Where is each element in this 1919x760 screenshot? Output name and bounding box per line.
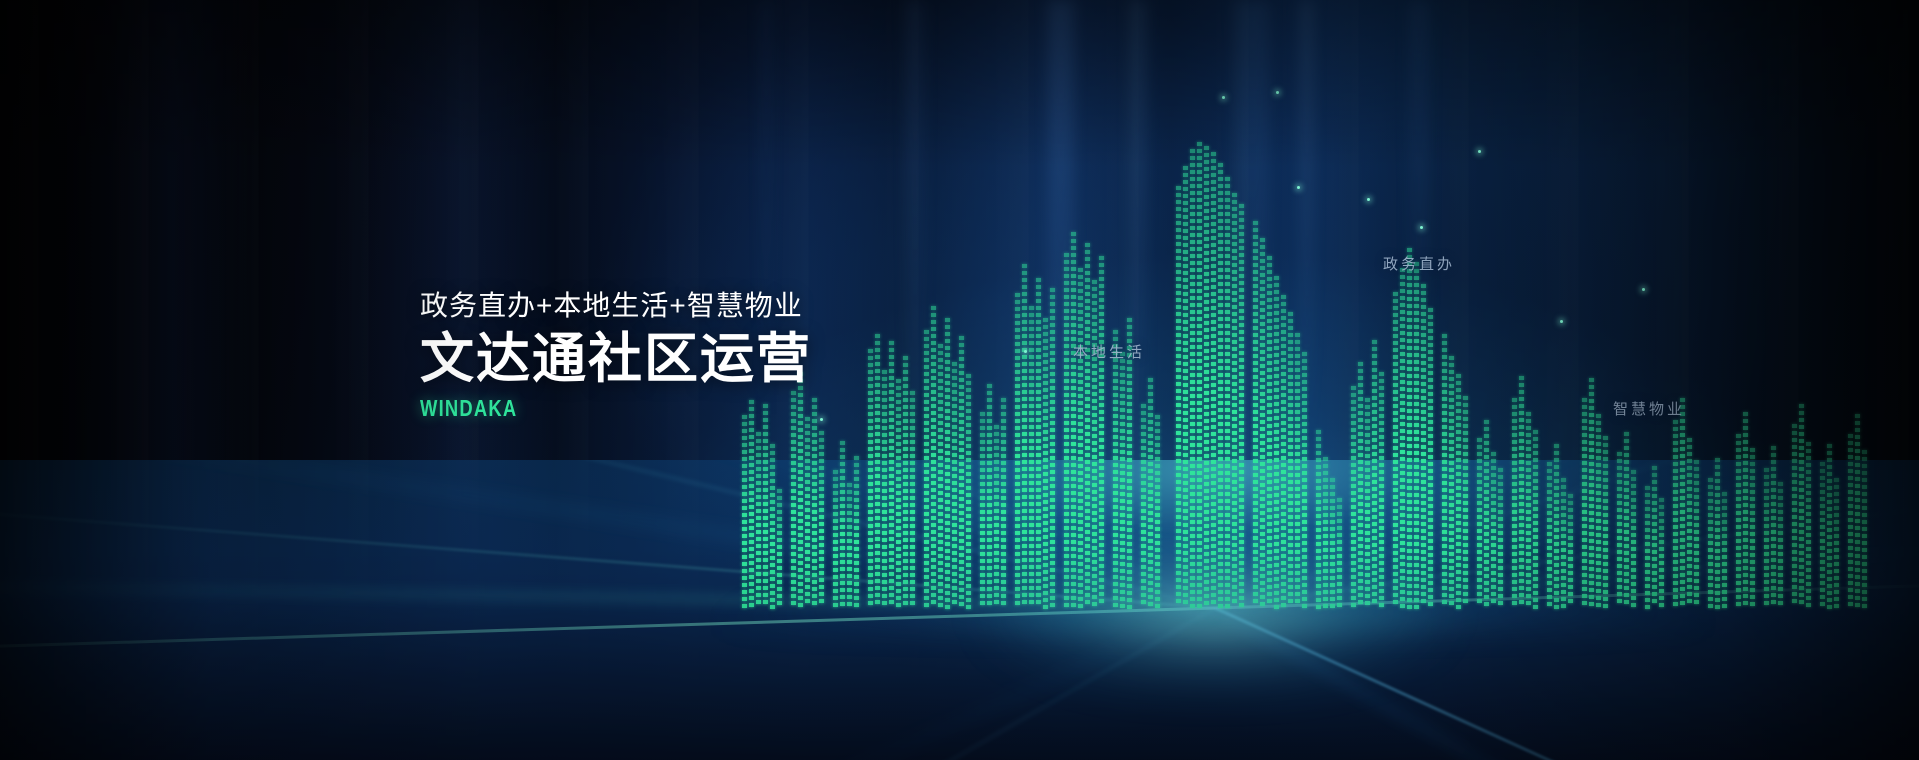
skyline-column [840,441,845,612]
skyline-column [966,374,971,612]
skyline-column [1092,280,1097,612]
skyline-column [1253,221,1258,612]
skyline-column [1862,450,1867,612]
skyline-column [1568,494,1573,612]
skyline-column [1617,452,1622,612]
floating-label-2: 本地生活 [1073,341,1145,362]
skyline-column [812,398,817,612]
skyline-column [1750,448,1755,612]
skyline-column [1288,312,1293,612]
skyline-column [1848,434,1853,612]
skyline-column [945,318,950,612]
skyline-column [1211,152,1216,612]
sparkle-dot [1560,320,1563,323]
skyline-column [833,470,838,612]
skyline-column [1400,268,1405,612]
skyline-column [1519,376,1524,612]
skyline-column [1260,238,1265,612]
skyline-column [1295,333,1300,612]
skyline-column [1071,232,1076,612]
skyline-column [1141,404,1146,612]
skyline-column [1533,430,1538,612]
skyline-column [805,417,810,612]
floating-label-1: 政务直办 [1383,253,1455,274]
skyline-column [994,425,999,612]
skyline-column [1393,292,1398,612]
skyline-column [1330,478,1335,612]
skyline-column [1659,498,1664,612]
skyline-column [749,400,754,612]
skyline-column [1743,412,1748,612]
sparkle-dot [1024,350,1027,353]
skyline-column [1022,264,1027,612]
skyline-column [1428,308,1433,612]
sparkle-dot [1420,226,1423,229]
skyline-column [1645,486,1650,612]
skyline-column [1078,268,1083,612]
skyline-column [1442,334,1447,612]
skyline-column [959,336,964,612]
skyline-column [1673,420,1678,612]
sparkle-dot [1478,150,1481,153]
skyline-column [1603,436,1608,612]
skyline-column [1050,288,1055,612]
skyline-column [1477,438,1482,612]
skyline-column [1652,466,1657,612]
skyline-column [1407,248,1412,612]
skyline-column [1176,186,1181,612]
skyline-column [1778,482,1783,612]
skyline-column [1855,414,1860,612]
skyline-column [1218,163,1223,612]
skyline-column [1554,444,1559,612]
skyline-column [1358,362,1363,612]
skyline-column [1064,253,1069,612]
skyline-column [1820,462,1825,612]
skyline-column [1631,470,1636,612]
skyline-column [756,432,761,612]
skyline-column [1526,412,1531,612]
skyline-column [763,404,768,612]
skyline-column [1085,243,1090,612]
skyline-column [1274,276,1279,612]
sparkle-dot [1297,186,1300,189]
skyline-column [1736,434,1741,612]
skyline-column [1148,378,1153,612]
skyline-column [1463,396,1468,612]
skyline-column [1708,478,1713,612]
skyline-column [1001,398,1006,612]
skyline-column [1799,404,1804,612]
skyline-column [1484,420,1489,612]
skyline-column [1421,284,1426,612]
skyline-column [819,431,824,612]
hero-banner: 政务直办本地生活智慧物业 政务直办+本地生活+智慧物业 文达通社区运营 WIND… [0,0,1919,760]
skyline-column [1806,442,1811,612]
skyline-column [1715,458,1720,612]
skyline-column [1036,278,1041,612]
headline-block: 政务直办+本地生活+智慧物业 文达通社区运营 WINDAKA [420,288,940,422]
banner-subtitle: 政务直办+本地生活+智慧物业 [420,288,940,323]
skyline-column [1120,352,1125,612]
skyline-column [1365,398,1370,612]
skyline-column [777,489,782,612]
skyline-column [1239,204,1244,612]
skyline-column [1582,398,1587,612]
skyline-column [791,391,796,612]
dotted-skyline-chart [0,0,1919,760]
skyline-column [1694,460,1699,612]
skyline-column [1351,386,1356,612]
skyline-column [1680,398,1685,612]
skyline-column [1722,492,1727,612]
skyline-column [1491,452,1496,612]
skyline-column [1414,262,1419,612]
skyline-column [1596,414,1601,612]
skyline-column [952,362,957,612]
skyline-column [1792,424,1797,612]
skyline-column [1015,293,1020,612]
skyline-column [1687,438,1692,612]
skyline-column [1302,352,1307,612]
skyline-column [1232,193,1237,612]
skyline-column [854,456,859,612]
skyline-column [1099,256,1104,612]
skyline-column [1449,356,1454,612]
skyline-column [742,415,747,612]
skyline-column [1379,372,1384,612]
skyline-column [1827,444,1832,612]
skyline-column [1764,468,1769,612]
skyline-column [1834,478,1839,612]
skyline-column [1512,398,1517,612]
skyline-column [1337,498,1342,612]
sparkle-dot [1276,91,1279,94]
sparkle-dot [1367,198,1370,201]
skyline-column [1323,457,1328,612]
skyline-column [1183,166,1188,612]
skyline-column [1127,318,1132,612]
skyline-column [770,444,775,612]
skyline-column [1589,378,1594,612]
floating-label-3: 智慧物业 [1613,398,1685,419]
skyline-column [1267,256,1272,612]
skyline-column [1190,149,1195,612]
skyline-column [1113,330,1118,612]
skyline-column [1561,478,1566,612]
skyline-column [1372,340,1377,612]
skyline-column [1456,374,1461,612]
skyline-column [1316,430,1321,612]
sparkle-dot [1642,288,1645,291]
skyline-column [1204,146,1209,612]
skyline-column [1547,462,1552,612]
skyline-column [1281,295,1286,612]
sparkle-dot [1222,96,1225,99]
banner-title: 文达通社区运营 [420,329,940,389]
skyline-column [1225,177,1230,612]
skyline-column [910,391,915,612]
skyline-column [847,483,852,612]
skyline-column [1197,142,1202,612]
skyline-column [1043,318,1048,612]
skyline-column [1498,468,1503,612]
skyline-column [980,412,985,612]
skyline-column [1771,446,1776,612]
skyline-column [1624,432,1629,612]
skyline-column [1155,415,1160,612]
brand-wordmark: WINDAKA [420,395,836,422]
skyline-column [987,384,992,612]
skyline-column [1029,306,1034,612]
